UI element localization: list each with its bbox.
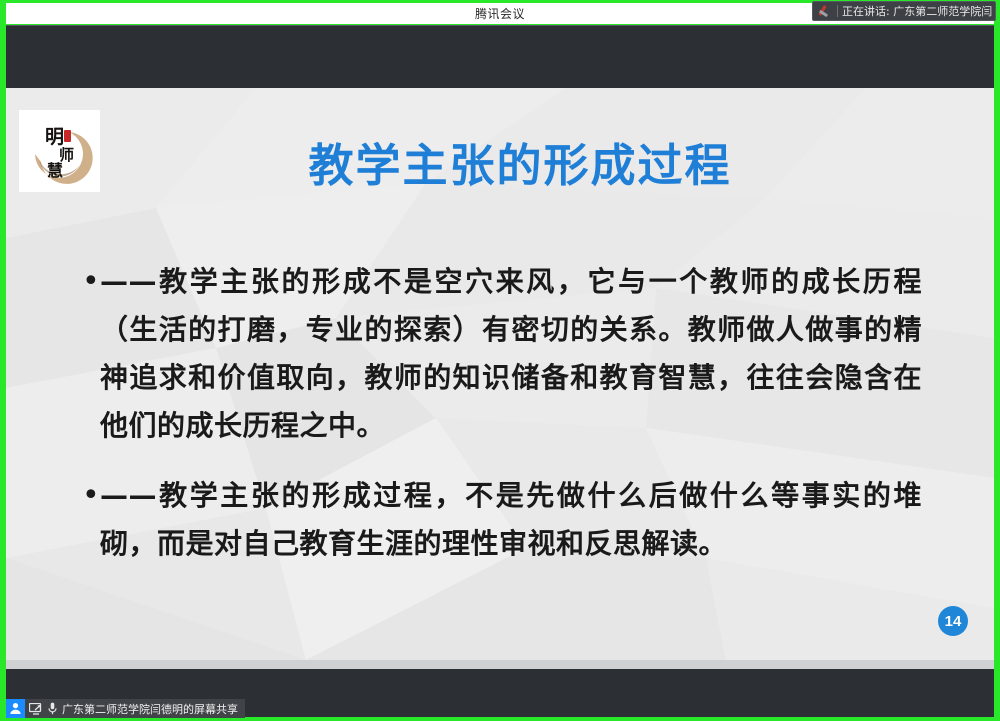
window-title: 腾讯会议 [475, 5, 525, 22]
microphone-icon[interactable] [48, 702, 57, 715]
svg-text:明: 明 [45, 126, 64, 148]
active-speaker-toast[interactable]: 正在讲话: 广东第二师范学院闫... [812, 1, 996, 21]
top-chrome-band [6, 25, 994, 88]
svg-text:慧: 慧 [47, 161, 63, 180]
bullet-marker-icon: • [82, 258, 100, 306]
meeting-window-frame: 腾讯会议 正在讲话: 广东第二师范学院闫... [0, 0, 1000, 721]
slide-body: • ——教学主张的形成不是空穴来风，它与一个教师的成长历程（生活的打磨，专业的探… [82, 258, 922, 590]
speaking-mic-icon [816, 4, 836, 18]
slide-logo: 明 师 慧 [19, 110, 100, 192]
slide-bullet: • ——教学主张的形成不是空穴来风，它与一个教师的成长历程（生活的打磨，专业的探… [82, 258, 922, 450]
toast-divider [837, 5, 838, 17]
slide-bullet: • ——教学主张的形成过程，不是先做什么后做什么等事实的堆砌，而是对自己教育生涯… [82, 472, 922, 568]
slide-page-number-badge: 14 [938, 606, 968, 636]
slide-bullet-text: ——教学主张的形成过程，不是先做什么后做什么等事实的堆砌，而是对自己教育生涯的理… [100, 472, 922, 568]
share-status-label: 广东第二师范学院闫德明的屏幕共享 [62, 701, 238, 717]
share-status-bar: 广东第二师范学院闫德明的屏幕共享 [6, 699, 245, 718]
slide-bullet-text: ——教学主张的形成不是空穴来风，它与一个教师的成长历程（生活的打磨，专业的探索）… [100, 258, 922, 450]
slide-title: 教学主张的形成过程 [120, 138, 920, 194]
person-icon[interactable] [6, 699, 25, 718]
mingshihui-logo-icon: 明 师 慧 [19, 110, 100, 192]
screen-share-icon[interactable] [29, 703, 43, 715]
active-speaker-label: 正在讲话: 广东第二师范学院闫... [842, 3, 992, 19]
slide-bottom-strip [6, 660, 994, 669]
share-status-pill[interactable]: 广东第二师范学院闫德明的屏幕共享 [25, 699, 245, 718]
bullet-marker-icon: • [82, 472, 100, 520]
